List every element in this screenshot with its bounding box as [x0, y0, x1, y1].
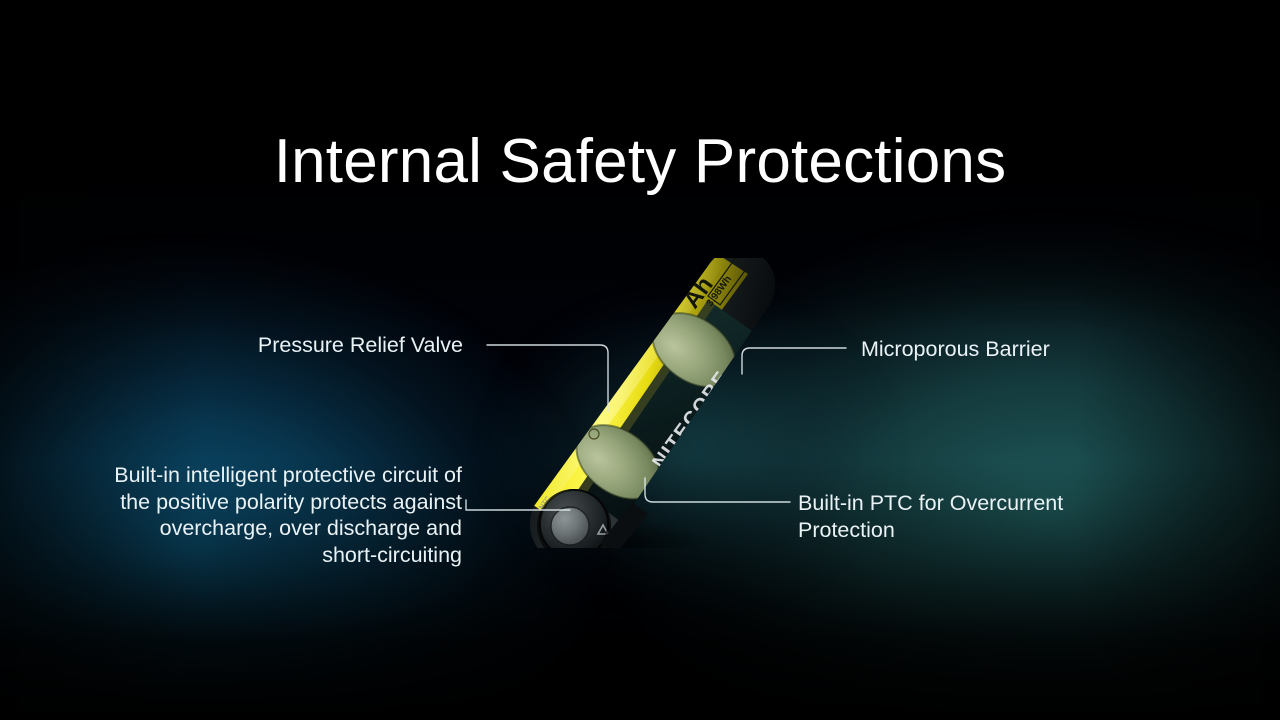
callout-ptc: Built-in PTC for Overcurrent Protection [798, 490, 1128, 543]
callout-pressure-relief-valve: Pressure Relief Valve [150, 332, 463, 359]
page-title: Internal Safety Protections [0, 131, 1280, 193]
battery-body: NITECORE Ah 3.98Wh Max Continuous Discha… [520, 258, 775, 548]
callout-microporous-barrier: Microporous Barrier [861, 336, 1181, 363]
slide-canvas: Internal Safety Protections [0, 0, 1280, 720]
battery-cutaway-graphic: NITECORE Ah 3.98Wh Max Continuous Discha… [512, 258, 822, 548]
callout-protective-circuit: Built-in intelligent protective circuit … [40, 462, 462, 568]
battery-illustration: NITECORE Ah 3.98Wh Max Continuous Discha… [512, 258, 822, 548]
